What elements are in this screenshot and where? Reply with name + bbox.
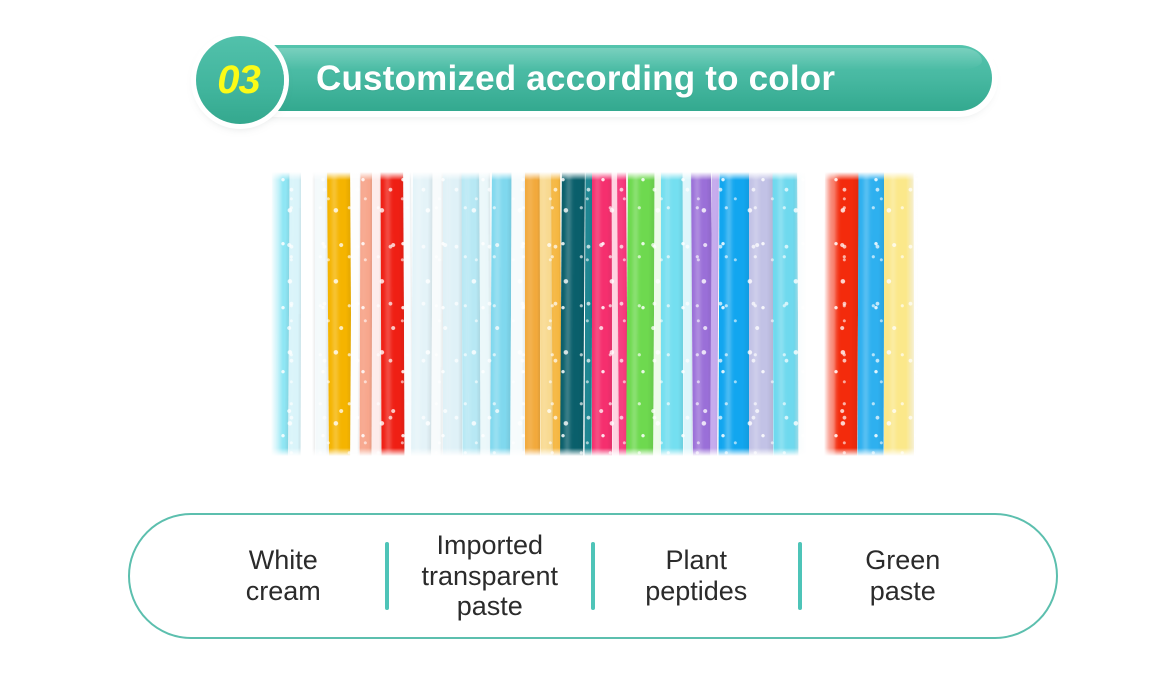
paste-stripe	[626, 172, 655, 456]
page-title: Customized according to color	[316, 46, 835, 112]
section-header-banner: Customized according to color 03	[196, 36, 996, 124]
paste-stripe	[431, 172, 443, 456]
feature-list-pill: White cream Imported transparent paste P…	[128, 513, 1058, 639]
paste-stripe	[327, 172, 352, 456]
paste-stripe	[560, 172, 585, 456]
paste-stripe	[772, 172, 798, 456]
feature-item-3: Green paste	[802, 545, 1005, 607]
page-root: Customized according to color 03 White c…	[0, 0, 1175, 689]
feature-item-2: Plant peptides	[595, 545, 798, 607]
feature-item-0: White cream	[182, 545, 385, 607]
paste-stripe	[858, 172, 885, 456]
paste-stripe	[301, 172, 315, 456]
paste-stripe	[360, 172, 373, 456]
stripe-group-right	[824, 172, 918, 456]
paste-stripe	[511, 172, 526, 456]
paste-stripe	[884, 172, 914, 456]
paste-stripe	[592, 172, 612, 456]
paste-stripe	[797, 172, 806, 456]
gallery	[271, 172, 918, 456]
paste-stripe	[411, 172, 433, 456]
paste-stripe	[749, 172, 772, 456]
paste-stripe	[718, 172, 749, 456]
color-paste-photo-right	[824, 172, 918, 456]
paste-stripe	[824, 172, 859, 456]
paste-stripe	[525, 172, 539, 456]
section-number-label: 03	[217, 60, 263, 100]
paste-stripe	[490, 172, 512, 456]
feature-item-1: Imported transparent paste	[389, 530, 592, 622]
paste-stripe	[914, 172, 918, 456]
paste-stripe	[380, 172, 404, 456]
top-cropped-text	[92, 0, 512, 12]
color-paste-photo-left	[271, 172, 806, 456]
paste-stripe	[271, 172, 290, 456]
paste-stripe	[289, 172, 302, 456]
paste-stripe	[661, 172, 683, 456]
paste-stripe	[443, 172, 463, 456]
paste-stripe	[315, 172, 328, 456]
section-number-badge: 03	[196, 36, 284, 124]
paste-stripe	[691, 172, 713, 456]
paste-stripe	[372, 172, 381, 456]
paste-stripe	[462, 172, 481, 456]
stripe-group-left	[271, 172, 806, 456]
